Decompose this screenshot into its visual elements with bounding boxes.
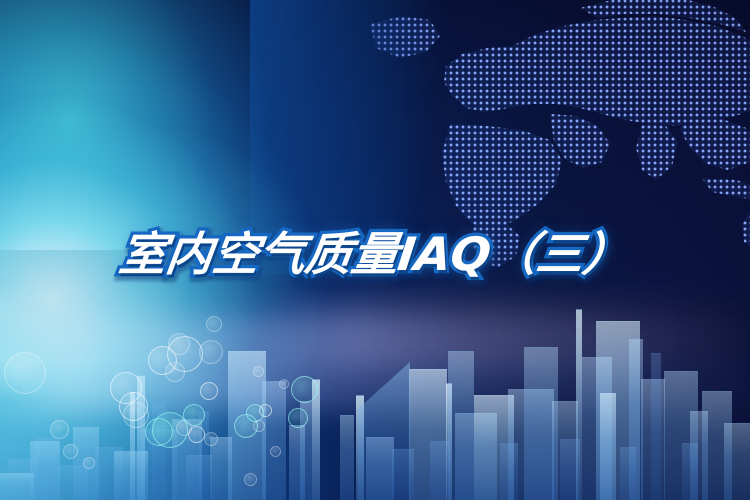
banner-image: 室内空气质量IAQ（三） 室内空气质量IAQ（三） (0, 0, 750, 500)
page-title: 室内空气质量IAQ（三） (0, 218, 750, 284)
city-left-cyan-tint (0, 250, 330, 500)
title-text: 室内空气质量IAQ（三） (116, 218, 634, 284)
